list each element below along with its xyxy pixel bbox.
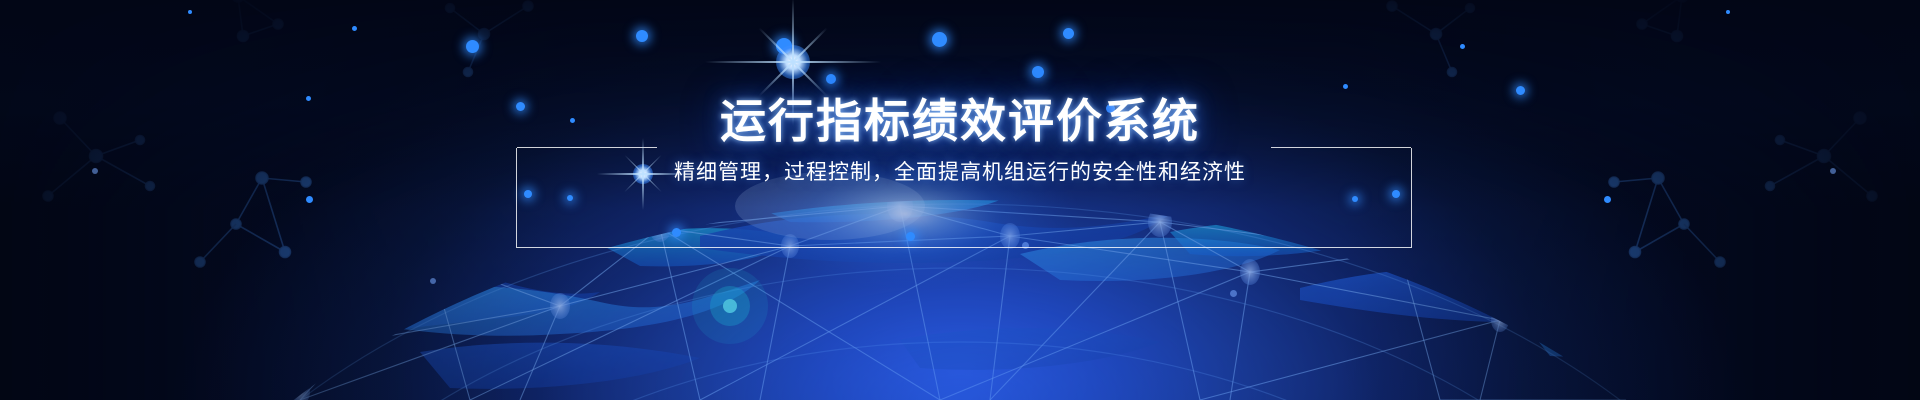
starburst-flare — [793, 62, 794, 63]
hero-banner: 运行指标绩效评价系统 精细管理，过程控制，全面提高机组运行的安全性和经济性 — [0, 0, 1920, 400]
banner-content: 运行指标绩效评价系统 精细管理，过程控制，全面提高机组运行的安全性和经济性 — [0, 0, 1920, 400]
banner-title: 运行指标绩效评价系统 — [0, 94, 1920, 148]
banner-subtitle: 精细管理，过程控制，全面提高机组运行的安全性和经济性 — [0, 158, 1920, 188]
